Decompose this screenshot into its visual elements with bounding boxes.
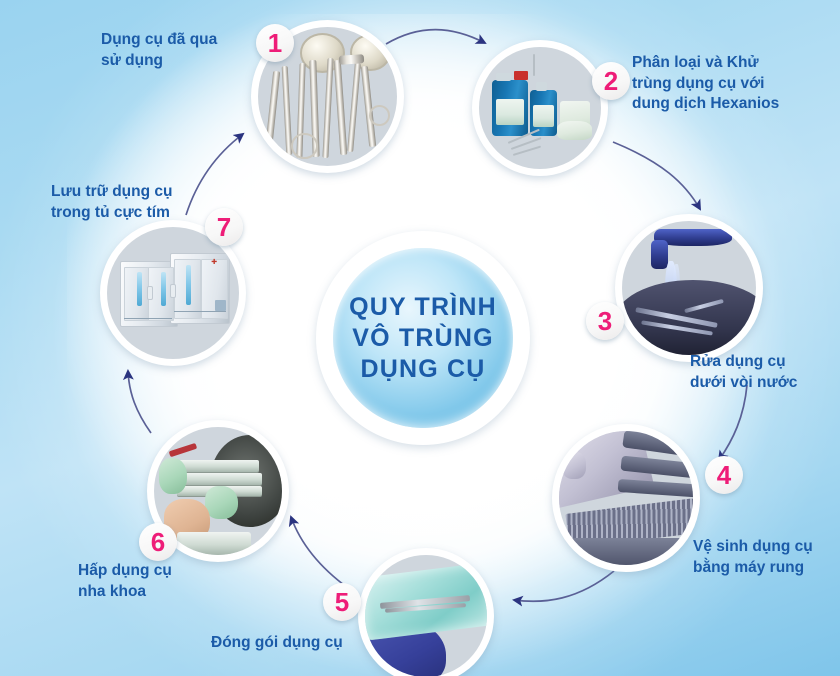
infographic-canvas: QUY TRÌNH VÔ TRÙNG DỤNG CỤ 1 Dụng cụ đã … bbox=[0, 0, 840, 676]
hexanios-disinfectant-bottles-photo bbox=[479, 47, 601, 169]
step-5-photo-bubble[interactable] bbox=[358, 548, 494, 676]
step-2-caption: Phân loại và Khử trùng dụng cụ với dung … bbox=[632, 53, 840, 115]
step-3-photo-bubble[interactable] bbox=[615, 214, 763, 362]
arrow-6-to-7 bbox=[128, 371, 151, 433]
step-4-caption: Vệ sinh dụng cụ bằng máy rung bbox=[693, 537, 840, 578]
step-1-number-badge: 1 bbox=[256, 24, 294, 62]
step-2-number-badge: 2 bbox=[592, 62, 630, 100]
step-2-photo-bubble[interactable] bbox=[472, 40, 608, 176]
step-4-number-badge: 4 bbox=[705, 456, 743, 494]
ultrasonic-cleaner-photo bbox=[559, 431, 693, 565]
cabinet-brand-mark: ✚ bbox=[211, 259, 217, 266]
step-1-caption: Dụng cụ đã qua sử dụng bbox=[101, 30, 251, 71]
uv-storage-cabinet-photo: ✚ bbox=[107, 227, 239, 359]
arrow-3-to-4 bbox=[719, 385, 747, 460]
center-title-line-2: VÔ TRÙNG bbox=[352, 323, 494, 354]
arrow-4-to-5 bbox=[514, 571, 614, 601]
step-7-caption: Lưu trữ dụng cụ trong tủ cực tím bbox=[51, 182, 226, 223]
step-3-caption: Rửa dụng cụ dưới vòi nước bbox=[690, 352, 840, 393]
step-4-photo-bubble[interactable] bbox=[552, 424, 700, 572]
center-title-disc: QUY TRÌNH VÔ TRÙNG DỤNG CỤ bbox=[333, 248, 513, 428]
step-5-number-badge: 5 bbox=[323, 583, 361, 621]
center-title-line-1: QUY TRÌNH bbox=[349, 292, 497, 323]
sealed-sterilization-pouch-photo bbox=[365, 555, 487, 676]
center-title-line-3: DỤNG CỤ bbox=[360, 354, 485, 385]
arrow-5-to-6 bbox=[291, 517, 348, 588]
step-3-number-badge: 3 bbox=[586, 302, 624, 340]
step-6-number-badge: 6 bbox=[139, 523, 177, 561]
arrow-2-to-3 bbox=[613, 142, 700, 209]
center-title-circle: QUY TRÌNH VÔ TRÙNG DỤNG CỤ bbox=[316, 231, 530, 445]
rinsing-under-running-water-photo bbox=[622, 221, 756, 355]
step-6-caption: Hấp dụng cụ nha khoa bbox=[78, 561, 248, 602]
step-5-caption: Đóng gói dụng cụ bbox=[211, 633, 411, 654]
step-7-number-badge: 7 bbox=[205, 208, 243, 246]
arrow-1-to-2 bbox=[386, 30, 485, 44]
